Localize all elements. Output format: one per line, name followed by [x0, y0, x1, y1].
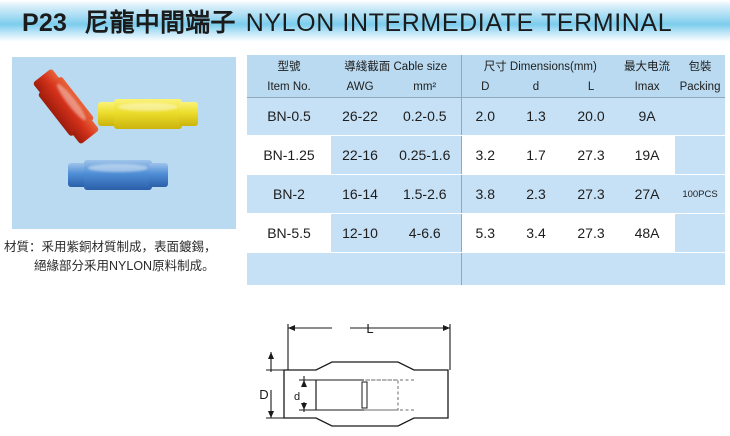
l-arrow-right	[443, 325, 450, 331]
cell-awg: 12-10	[331, 214, 389, 252]
cell-packing	[675, 136, 725, 174]
subheader-d-upper: D	[461, 77, 509, 97]
cell-item-no: BN-2	[247, 175, 331, 213]
material-note-line-2: 絕緣部分釆用NYLON原料制成。	[4, 257, 244, 276]
cell-l: 20.0	[563, 97, 619, 135]
header-packing-cjk: 包裝	[675, 55, 725, 77]
cell-imax: 48A	[619, 214, 675, 252]
d-upper-arrow-top	[268, 352, 274, 359]
yellow-connector	[98, 99, 198, 129]
table-trailing-row	[247, 253, 725, 285]
cell-awg: 22-16	[331, 136, 389, 174]
cell-packing	[675, 97, 725, 135]
cell-imax: 19A	[619, 136, 675, 174]
header-imax-cjk: 最大电流	[619, 55, 675, 77]
technical-drawing-svg: L D d	[258, 318, 558, 434]
cell-item-no: BN-1.25	[247, 136, 331, 174]
subheader-imax: Imax	[619, 77, 675, 97]
cell-mm2: 1.5-2.6	[389, 175, 461, 213]
product-photo	[12, 57, 236, 229]
subheader-l: L	[563, 77, 619, 97]
cell-d-lower: 1.7	[509, 136, 563, 174]
table-row: BN-5.5 12-10 4-6.6 5.3 3.4 27.3 48A	[247, 214, 725, 252]
blue-connector-highlight	[88, 164, 148, 172]
terminal-center-stop	[362, 382, 367, 408]
cell-d-lower: 1.3	[509, 97, 563, 135]
header-cable-size-en: Cable size	[394, 61, 448, 73]
cell-d-upper: 2.0	[461, 97, 509, 135]
subheader-item-no: Item No.	[247, 77, 331, 97]
red-connector-highlight	[54, 81, 89, 123]
cell-d-upper: 3.2	[461, 136, 509, 174]
trailing-cell-d-lower	[509, 253, 563, 285]
cell-d-upper: 5.3	[461, 214, 509, 252]
subheader-mm2: mm²	[389, 77, 461, 97]
catalog-page: P23 尼龍中間端子 NYLON INTERMEDIATE TERMINAL 材…	[0, 0, 730, 436]
trailing-cell-imax	[619, 253, 675, 285]
cell-packing: 100PCS	[675, 175, 725, 213]
trailing-cell-mm2	[389, 253, 461, 285]
header-dimensions-cjk: 尺寸	[484, 61, 507, 73]
cell-item-no: BN-5.5	[247, 214, 331, 252]
cell-imax: 27A	[619, 175, 675, 213]
cell-awg: 26-22	[331, 97, 389, 135]
blue-connector-barrel	[84, 160, 152, 190]
red-connector	[30, 66, 102, 146]
table-row: BN-0.5 26-22 0.2-0.5 2.0 1.3 20.0 9A	[247, 97, 725, 135]
cell-d-lower: 2.3	[509, 175, 563, 213]
table-row: BN-1.25 22-16 0.25-1.6 3.2 1.7 27.3 19A	[247, 136, 725, 174]
trailing-cell-awg	[331, 253, 389, 285]
drawing-label-d: d	[294, 391, 300, 403]
yellow-connector-barrel	[114, 99, 182, 129]
technical-drawing: L D d	[258, 318, 558, 434]
d-lower-arrow-top	[301, 380, 307, 387]
cell-d-lower: 3.4	[509, 214, 563, 252]
cell-item-no: BN-0.5	[247, 97, 331, 135]
yellow-connector-right-end	[179, 102, 198, 125]
page-code: P23	[22, 9, 67, 37]
cell-mm2: 4-6.6	[389, 214, 461, 252]
trailing-cell-item-no	[247, 253, 331, 285]
d-lower-arrow-bottom	[301, 403, 307, 410]
page-title-cjk: 尼龍中間端子	[81, 9, 238, 37]
cell-awg: 16-14	[331, 175, 389, 213]
material-note-line-1: 材質：釆用紫銅材質制成，表面鍍錫，	[4, 240, 217, 254]
cell-mm2: 0.25-1.6	[389, 136, 461, 174]
header-dimensions: 尺寸 Dimensions(mm)	[461, 55, 619, 77]
page-title-en: NYLON INTERMEDIATE TERMINAL	[246, 9, 672, 37]
blue-connector	[68, 160, 168, 190]
trailing-cell-l	[563, 253, 619, 285]
l-arrow-left	[288, 325, 295, 331]
header-cable-size: 導綫截面 Cable size	[331, 55, 461, 77]
cell-l: 27.3	[563, 175, 619, 213]
trailing-cell-d-upper	[461, 253, 509, 285]
subheader-packing: Packing	[675, 77, 725, 97]
blue-connector-right-end	[149, 163, 168, 186]
header-dimensions-en: Dimensions(mm)	[510, 61, 597, 73]
cell-l: 27.3	[563, 136, 619, 174]
header-cable-size-cjk: 導綫截面	[344, 61, 390, 73]
specification-table: 型號 導綫截面 Cable size 尺寸 Dimensions(mm) 最大电…	[247, 55, 725, 289]
cell-mm2: 0.2-0.5	[389, 97, 461, 135]
drawing-label-L: L	[366, 321, 373, 336]
yellow-connector-highlight	[118, 103, 178, 111]
table-row: BN-2 16-14 1.5-2.6 3.8 2.3 27.3 27A 100P…	[247, 175, 725, 213]
subheader-d-lower: d	[509, 77, 563, 97]
cell-imax: 9A	[619, 97, 675, 135]
cell-d-upper: 3.8	[461, 175, 509, 213]
page-title: P23 尼龍中間端子 NYLON INTERMEDIATE TERMINAL	[22, 3, 672, 39]
material-note: 材質：釆用紫銅材質制成，表面鍍錫， 絕緣部分釆用NYLON原料制成。	[4, 238, 244, 276]
subheader-awg: AWG	[331, 77, 389, 97]
cell-packing	[675, 214, 725, 252]
cell-l: 27.3	[563, 214, 619, 252]
page-header-banner: P23 尼龍中間端子 NYLON INTERMEDIATE TERMINAL	[0, 0, 730, 42]
table-sub-header-row: Item No. AWG mm² D d L Imax Packing	[247, 77, 725, 97]
terminal-inner-sleeve	[316, 380, 398, 410]
header-item-no-cjk: 型號	[247, 55, 331, 77]
trailing-cell-packing	[675, 253, 725, 285]
d-upper-arrow-bottom	[268, 411, 274, 418]
table-group-header-row: 型號 導綫截面 Cable size 尺寸 Dimensions(mm) 最大电…	[247, 55, 725, 77]
drawing-label-D: D	[259, 387, 268, 402]
